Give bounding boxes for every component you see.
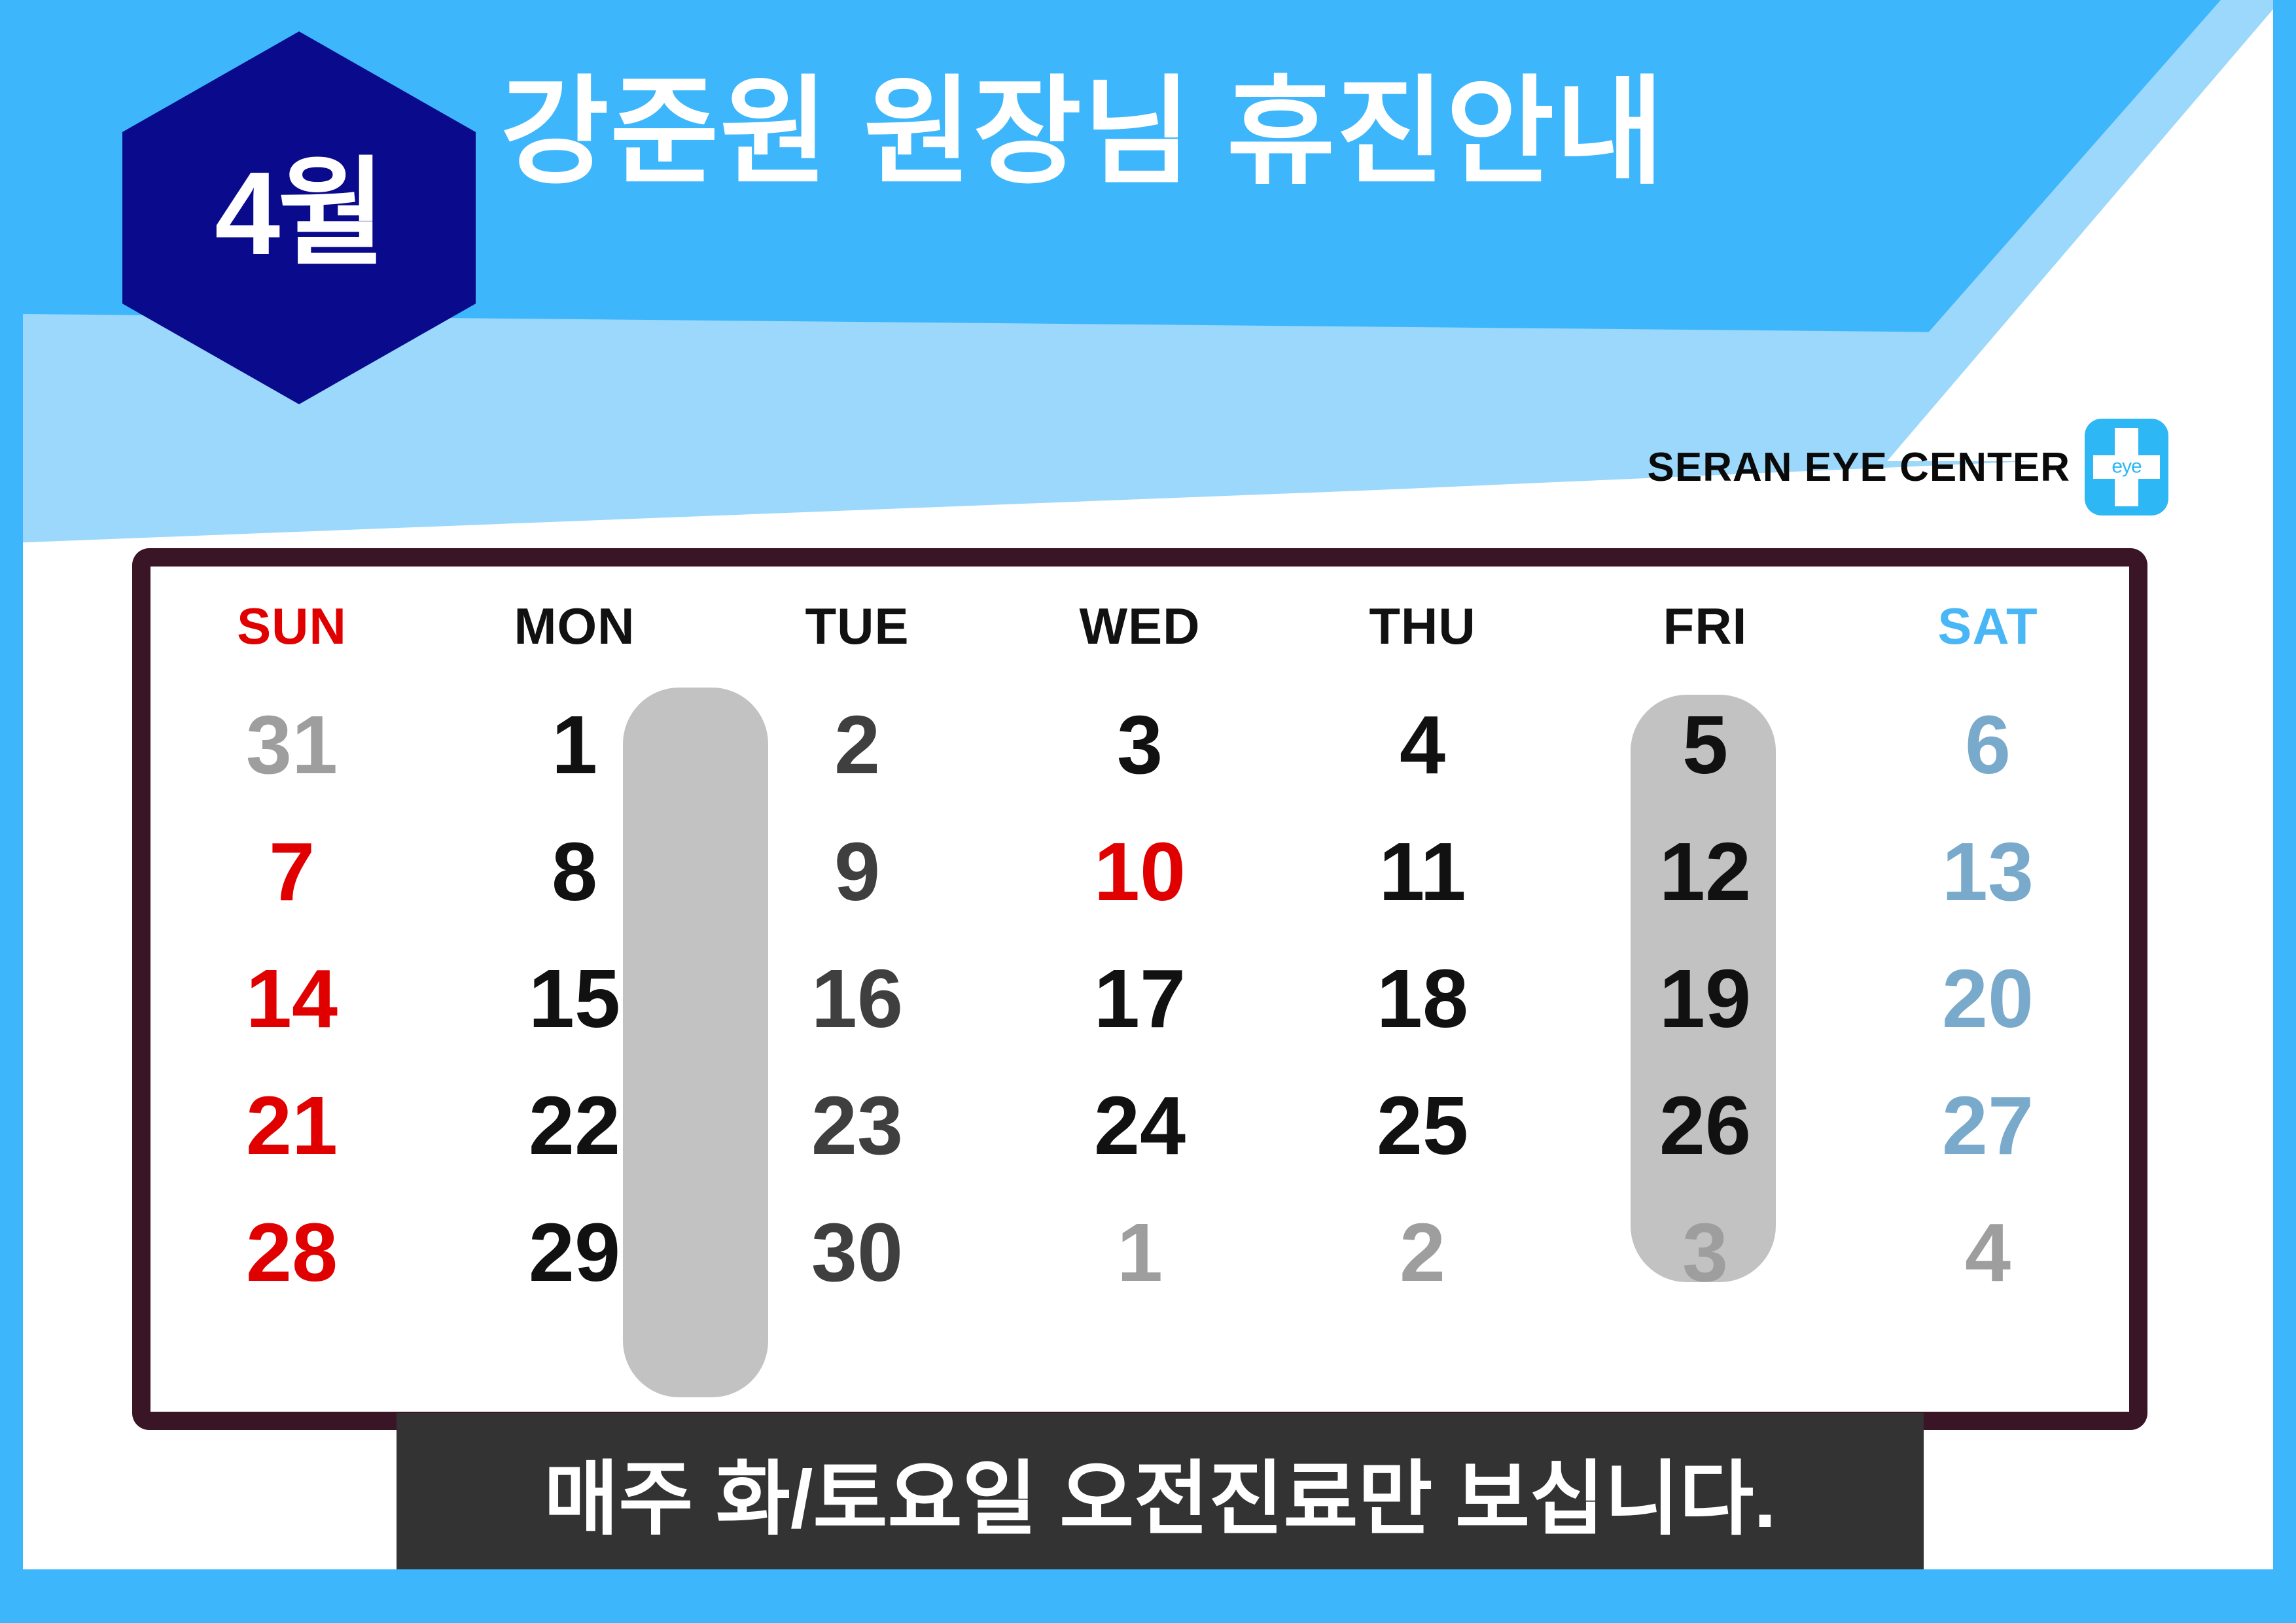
calendar-day-cell[interactable]: 2 bbox=[716, 682, 998, 809]
calendar-day-cell[interactable]: 29 bbox=[433, 1189, 716, 1316]
notice-banner: 매주 화/토요일 오전진료만 보십니다. bbox=[397, 1413, 1924, 1569]
day-header-mon: MON bbox=[433, 570, 716, 682]
calendar-day-cell[interactable]: 27 bbox=[1846, 1062, 2129, 1189]
calendar-day-cell[interactable]: 31 bbox=[150, 682, 433, 809]
calendar-day-cell[interactable]: 4 bbox=[1281, 682, 1564, 809]
calendar-day-cell[interactable]: 4 bbox=[1846, 1189, 2129, 1316]
calendar-day-cell[interactable]: 22 bbox=[433, 1062, 716, 1189]
day-header-thu: THU bbox=[1281, 570, 1564, 682]
calendar-day-cell[interactable]: 3 bbox=[998, 682, 1281, 809]
calendar-day-cell[interactable]: 19 bbox=[1564, 935, 1846, 1062]
calendar-day-cell[interactable]: 2 bbox=[1281, 1189, 1564, 1316]
day-header-fri: FRI bbox=[1564, 570, 1846, 682]
calendar-day-cell[interactable]: 17 bbox=[998, 935, 1281, 1062]
calendar-grid: SUN MON TUE WED THU FRI SAT 31 1 2 3 4 5… bbox=[150, 567, 2129, 1412]
day-header-wed: WED bbox=[998, 570, 1281, 682]
calendar-day-cell[interactable]: 16 bbox=[716, 935, 998, 1062]
calendar-day-cell[interactable]: 15 bbox=[433, 935, 716, 1062]
calendar-day-cell[interactable]: 18 bbox=[1281, 935, 1564, 1062]
calendar-day-cell[interactable]: 11 bbox=[1281, 809, 1564, 935]
brand-name: SERAN EYE CENTER bbox=[1648, 444, 2070, 491]
notice-banner-text: 매주 화/토요일 오전진료만 보십니다. bbox=[544, 1433, 1776, 1550]
poster-root: 4월 강준원 원장님 휴진안내 SERAN EYE CENTER eye SUN… bbox=[0, 0, 2296, 1623]
calendar-day-cell[interactable]: 12 bbox=[1564, 809, 1846, 935]
logo-eye-text: eye bbox=[2085, 457, 2168, 476]
calendar-day-cell[interactable]: 21 bbox=[150, 1062, 433, 1189]
calendar-day-cell[interactable]: 1 bbox=[433, 682, 716, 809]
calendar-day-cell[interactable]: 5 bbox=[1564, 682, 1846, 809]
calendar-day-cell[interactable]: 30 bbox=[716, 1189, 998, 1316]
calendar-day-cell[interactable]: 1 bbox=[998, 1189, 1281, 1316]
calendar-day-cell[interactable]: 24 bbox=[998, 1062, 1281, 1189]
poster-canvas: 4월 강준원 원장님 휴진안내 SERAN EYE CENTER eye SUN… bbox=[23, 0, 2273, 1569]
calendar-inner: SUN MON TUE WED THU FRI SAT 31 1 2 3 4 5… bbox=[150, 567, 2129, 1412]
medical-cross-icon: eye bbox=[2085, 419, 2168, 515]
calendar-day-cell[interactable]: 23 bbox=[716, 1062, 998, 1189]
calendar-day-cell[interactable]: 14 bbox=[150, 935, 433, 1062]
calendar-day-cell[interactable]: 20 bbox=[1846, 935, 2129, 1062]
calendar-day-cell[interactable]: 6 bbox=[1846, 682, 2129, 809]
calendar-day-cell[interactable]: 25 bbox=[1281, 1062, 1564, 1189]
calendar-day-cell[interactable]: 7 bbox=[150, 809, 433, 935]
day-header-tue: TUE bbox=[716, 570, 998, 682]
brand-block: SERAN EYE CENTER eye bbox=[1648, 419, 2168, 515]
month-badge-label: 4월 bbox=[215, 155, 383, 273]
day-header-sun: SUN bbox=[150, 570, 433, 682]
calendar-day-cell[interactable]: 3 bbox=[1564, 1189, 1846, 1316]
calendar-day-cell[interactable]: 26 bbox=[1564, 1062, 1846, 1189]
calendar-card: SUN MON TUE WED THU FRI SAT 31 1 2 3 4 5… bbox=[132, 548, 2147, 1430]
page-title: 강준원 원장님 휴진안내 bbox=[501, 59, 1665, 206]
day-header-sat: SAT bbox=[1846, 570, 2129, 682]
calendar-day-cell[interactable]: 28 bbox=[150, 1189, 433, 1316]
calendar-day-cell[interactable]: 13 bbox=[1846, 809, 2129, 935]
calendar-day-cell[interactable]: 9 bbox=[716, 809, 998, 935]
calendar-day-cell[interactable]: 10 bbox=[998, 809, 1281, 935]
calendar-day-cell[interactable]: 8 bbox=[433, 809, 716, 935]
